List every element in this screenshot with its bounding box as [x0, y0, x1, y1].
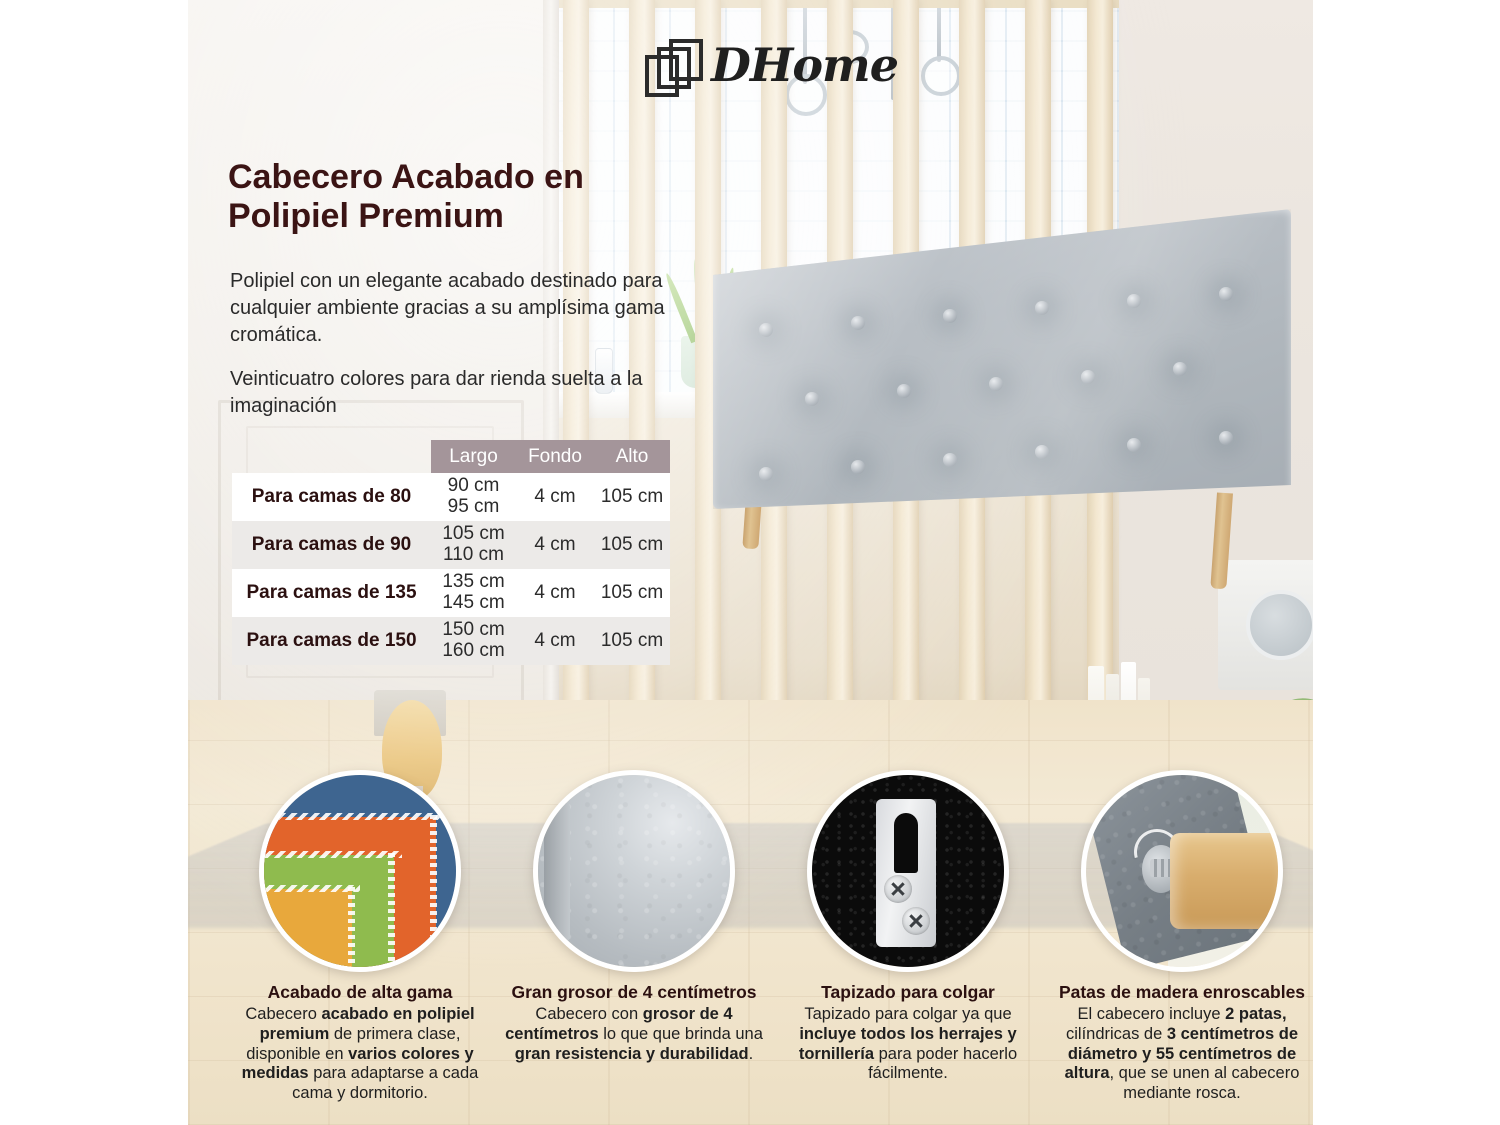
overlapping-squares-logo-icon	[645, 39, 701, 91]
column-header-fondo: Fondo	[516, 446, 594, 468]
swatch-zigzag-edge	[259, 851, 402, 858]
feature-body: Cabecero acabado en polipiel premium de …	[226, 1005, 494, 1104]
feature-title: Tapizado para colgar	[774, 982, 1042, 1003]
feature-body-text: .	[749, 1045, 754, 1063]
bracket-keyhole-slot	[894, 813, 918, 873]
title-line-2: Polipiel Premium	[228, 197, 658, 236]
tufting-button	[1035, 445, 1049, 459]
left-margin	[0, 0, 188, 1125]
feature-body-text: lo que que brinda una	[599, 1025, 763, 1043]
cell-alto: 105 cm	[594, 535, 670, 556]
title-line-1: Cabecero Acabado en	[228, 158, 658, 197]
feature-title: Gran grosor de 4 centímetros	[500, 982, 768, 1003]
feature-title: Patas de madera enroscables	[1048, 982, 1316, 1003]
tufting-button	[1219, 287, 1233, 301]
feature-body-text: cilíndricas de	[1066, 1025, 1167, 1043]
tufting-button	[851, 460, 865, 474]
feature-body-emphasis: 2 patas,	[1225, 1005, 1286, 1023]
feature-body-text: Cabecero con	[535, 1005, 642, 1023]
tufting-button	[897, 384, 911, 398]
cell-fondo: 4 cm	[516, 583, 594, 604]
cell-alto: 105 cm	[594, 631, 670, 652]
cell-fondo: 4 cm	[516, 631, 594, 652]
cell-largo: 105 cm110 cm	[431, 524, 516, 566]
cell-alto: 105 cm	[594, 583, 670, 604]
row-label: Para camas de 150	[232, 630, 431, 652]
cell-fondo: 4 cm	[516, 487, 594, 508]
feature-body-text: , que se unen al cabecero mediante rosca…	[1110, 1064, 1300, 1102]
feature-body: El cabecero incluye 2 patas, cilíndricas…	[1048, 1005, 1316, 1104]
features-section: Acabado de alta gama Cabecero acabado en…	[188, 770, 1313, 1125]
upholstery-thickness-icon	[533, 770, 735, 972]
color-swatches-icon	[259, 770, 461, 972]
table-row: Para camas de 150150 cm160 cm4 cm105 cm	[232, 617, 670, 665]
feature-body-text: Cabecero	[245, 1005, 321, 1023]
feature-body-text: para adaptarse a cada cama y dormitorio.	[292, 1064, 478, 1102]
cell-fondo: 4 cm	[516, 535, 594, 556]
tufting-button	[805, 392, 819, 406]
dimensions-table: Largo Fondo Alto Para camas de 8090 cm95…	[232, 440, 670, 665]
tufting-button	[943, 453, 957, 467]
right-margin	[1313, 0, 1500, 1125]
swatch-amber	[259, 889, 352, 971]
tufting-button	[759, 323, 773, 337]
tufted-headboard-panel	[713, 209, 1291, 509]
feature-body-text: Tapizado para colgar ya que	[804, 1005, 1011, 1023]
feature-body-text: para poder hacerlo fácilmente.	[868, 1045, 1017, 1083]
wooden-leg-icon	[1081, 770, 1283, 972]
swatch-zigzag-edge	[259, 813, 444, 820]
wooden-leg	[1170, 833, 1278, 929]
table-row: Para camas de 90105 cm110 cm4 cm105 cm	[232, 521, 670, 569]
row-label: Para camas de 80	[232, 486, 431, 508]
brand-name: DHome	[711, 38, 898, 92]
feature-body: Tapizado para colgar ya que incluye todo…	[774, 1005, 1042, 1084]
product-image	[705, 205, 1305, 545]
tufting-button	[1127, 294, 1141, 308]
tufting-button	[943, 309, 957, 323]
column-header-largo: Largo	[431, 446, 516, 468]
headboard-sheen	[713, 209, 1291, 509]
feature-body-text: El cabecero incluye	[1077, 1005, 1225, 1023]
feature-title: Acabado de alta gama	[226, 982, 494, 1003]
row-label: Para camas de 90	[232, 534, 431, 556]
tufting-button	[1173, 362, 1187, 376]
cell-largo: 90 cm95 cm	[431, 476, 516, 518]
tufting-button	[759, 467, 773, 481]
product-description: Polipiel con un elegante acabado destina…	[230, 268, 682, 436]
feature-body-emphasis: gran resistencia y durabilidad	[515, 1045, 749, 1063]
tufting-button	[1035, 301, 1049, 315]
leather-edge-fold	[544, 803, 570, 941]
bracket-screw-upper	[884, 875, 912, 903]
cell-largo: 135 cm145 cm	[431, 572, 516, 614]
tufting-button	[1127, 438, 1141, 452]
column-header-alto: Alto	[594, 446, 670, 468]
feature-item-4: Patas de madera enroscables El cabecero …	[1048, 770, 1316, 1104]
table-header-row: Largo Fondo Alto	[431, 440, 670, 473]
description-paragraph-2: Veinticuatro colores para dar rienda sue…	[230, 366, 682, 420]
tufting-button	[851, 316, 865, 330]
appliance-door	[1246, 590, 1313, 660]
table-row: Para camas de 135135 cm145 cm4 cm105 cm	[232, 569, 670, 617]
feature-item-1: Acabado de alta gama Cabecero acabado en…	[226, 770, 494, 1104]
swatch-zigzag-edge	[259, 885, 360, 892]
brand-logo: DHome	[645, 38, 898, 92]
feature-item-2: Gran grosor de 4 centímetros Cabecero co…	[500, 770, 768, 1064]
swatch-zigzag-edge	[388, 853, 395, 972]
feature-item-3: Tapizado para colgar Tapizado para colga…	[774, 770, 1042, 1084]
swatch-zigzag-edge	[348, 887, 355, 972]
table-row: Para camas de 8090 cm95 cm4 cm105 cm	[232, 473, 670, 521]
wall-bracket-icon	[807, 770, 1009, 972]
page-title: Cabecero Acabado en Polipiel Premium	[228, 158, 658, 237]
bracket-screw-lower	[902, 907, 930, 935]
swatch-zigzag-edge	[430, 815, 437, 972]
tufting-button	[989, 377, 1003, 391]
feature-body: Cabecero con grosor de 4 centímetros lo …	[500, 1005, 768, 1064]
description-paragraph-1: Polipiel con un elegante acabado destina…	[230, 268, 682, 350]
table-body: Para camas de 8090 cm95 cm4 cm105 cmPara…	[232, 473, 670, 665]
tufting-button	[1219, 431, 1233, 445]
tufting-button	[1081, 370, 1095, 384]
row-label: Para camas de 135	[232, 582, 431, 604]
cell-alto: 105 cm	[594, 487, 670, 508]
infographic-canvas: DHome Cabecero Acabado en Polipiel Premi…	[0, 0, 1500, 1125]
cell-largo: 150 cm160 cm	[431, 620, 516, 662]
